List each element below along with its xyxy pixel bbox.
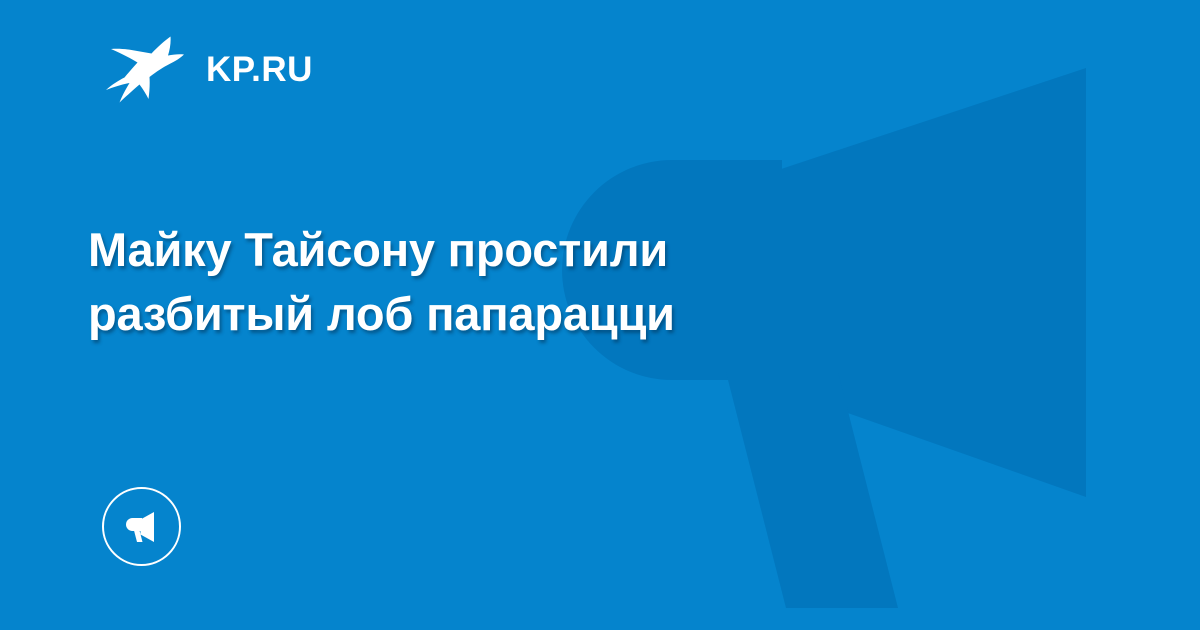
swallow-bird-logo-icon [106, 34, 184, 104]
megaphone-badge [102, 487, 181, 566]
brand-header: KP.RU [106, 33, 313, 105]
article-share-card: KP.RU Майку Тайсону простили разбитый ло… [0, 0, 1200, 630]
headline-line-1: Майку Тайсону простили [88, 218, 848, 282]
brand-wordmark: KP.RU [206, 52, 313, 87]
article-headline: Майку Тайсону простили разбитый лоб папа… [88, 218, 848, 346]
megaphone-icon [122, 507, 162, 547]
headline-line-2: разбитый лоб папарацци [88, 282, 848, 346]
